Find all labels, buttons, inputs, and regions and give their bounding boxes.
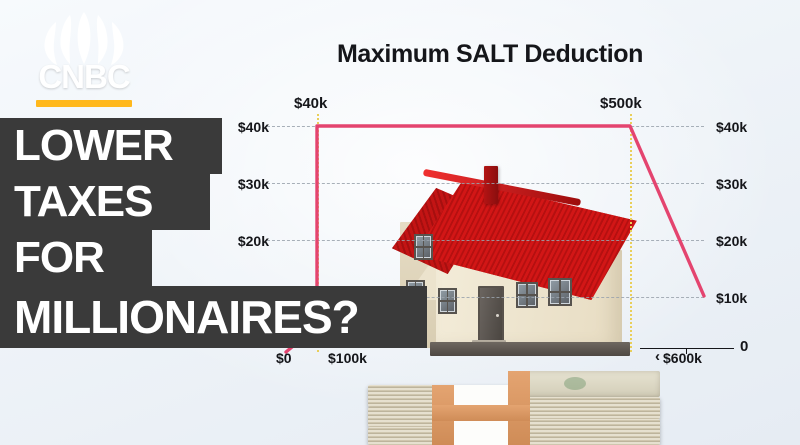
headline-text-taxes: TAXES — [14, 180, 152, 224]
x-axis-arrow-icon: ‹ — [655, 348, 660, 365]
cnbc-accent-bar — [36, 100, 132, 107]
y-axis-label-left-20k: $20k — [209, 233, 269, 249]
y-axis-label-right-10k: $10k — [716, 290, 776, 306]
y-axis-label-left-30k: $30k — [209, 176, 269, 192]
cnbc-logo: CNBC — [12, 8, 152, 116]
x-axis-label-100k: $100k — [328, 350, 367, 366]
headline-text-for: FOR — [14, 236, 104, 280]
headline-line-1: LOWER — [0, 118, 222, 174]
chart-title: Maximum SALT Deduction — [280, 40, 700, 69]
x-axis-label-0: $0 — [276, 350, 292, 366]
y-axis-label-right-40k: $40k — [716, 119, 776, 135]
y-axis-label-right-30k: $30k — [716, 176, 776, 192]
video-thumbnail: Maximum SALT Deduction $40k $30k $20k $1… — [0, 0, 800, 445]
headline-text-lower: LOWER — [14, 124, 173, 168]
headline-text-millionaires: MILLIONAIRES? — [14, 294, 359, 340]
axis-origin-label: 0 — [740, 338, 748, 355]
headline-line-4: MILLIONAIRES? — [0, 286, 427, 348]
headline-line-2: TAXES — [0, 174, 210, 230]
cnbc-wordmark: CNBC — [28, 60, 140, 94]
x-axis-label-600k: $600k — [663, 350, 702, 366]
y-axis-label-right-20k: $20k — [716, 233, 776, 249]
headline-line-3: FOR — [0, 230, 152, 286]
